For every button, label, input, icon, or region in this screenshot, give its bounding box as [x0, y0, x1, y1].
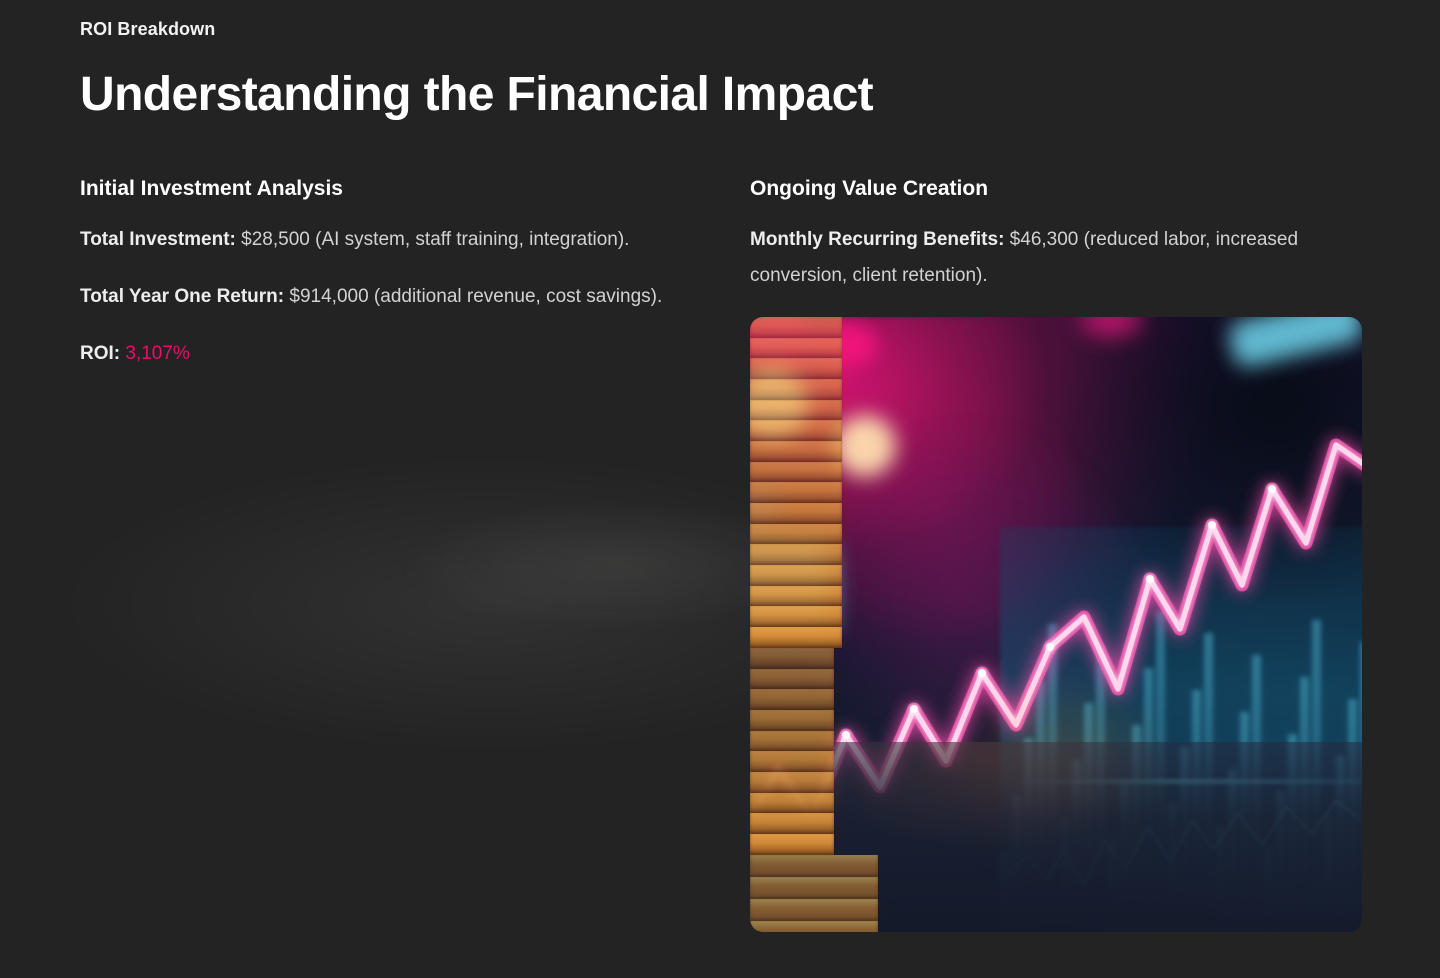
column-initial-investment: Initial Investment Analysis Total Invest… — [80, 177, 710, 932]
fact-total-investment: Total Investment: $28,500 (AI system, st… — [80, 222, 710, 258]
page-title: Understanding the Financial Impact — [80, 69, 1360, 121]
subheading-ongoing-value: Ongoing Value Creation — [750, 177, 1362, 201]
image-coin-stacks: $$$$ — [750, 317, 1362, 932]
two-column-layout: Initial Investment Analysis Total Invest… — [80, 177, 1360, 932]
fact-label: Total Investment: — [80, 229, 236, 250]
column-ongoing-value: Ongoing Value Creation Monthly Recurring… — [750, 177, 1362, 932]
section-eyebrow: ROI Breakdown — [80, 0, 1360, 40]
fact-label: ROI: — [80, 343, 120, 364]
fact-monthly-recurring-benefits: Monthly Recurring Benefits: $46,300 (red… — [750, 222, 1362, 294]
roi-value: 3,107% — [125, 343, 189, 364]
fact-total-year-one-return: Total Year One Return: $914,000 (additio… — [80, 279, 710, 315]
fact-label: Monthly Recurring Benefits: — [750, 229, 1004, 250]
fact-value: $914,000 (additional revenue, cost savin… — [284, 286, 662, 307]
fact-value: $28,500 (AI system, staff training, inte… — [236, 229, 630, 250]
subheading-initial-investment: Initial Investment Analysis — [80, 177, 710, 201]
roi-breakdown-section: ROI Breakdown Understanding the Financia… — [0, 0, 1440, 978]
fact-roi: ROI: 3,107% — [80, 336, 710, 372]
column-gap — [710, 177, 750, 932]
coins-growth-chart-image: $$$$ — [750, 317, 1362, 932]
fact-label: Total Year One Return: — [80, 286, 284, 307]
